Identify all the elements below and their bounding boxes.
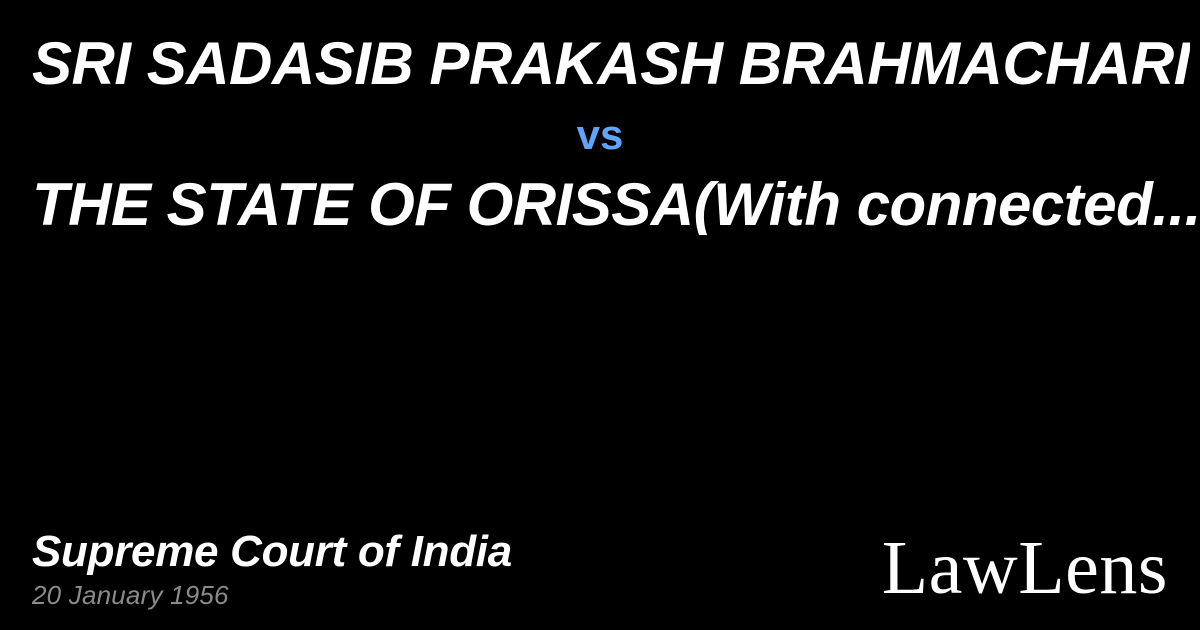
court-name: Supreme Court of India: [32, 528, 512, 576]
petitioner-name: SRI SADASIB PRAKASH BRAHMACHARI: [32, 34, 1190, 94]
case-card: SRI SADASIB PRAKASH BRAHMACHARI vs THE S…: [0, 0, 1200, 630]
card-footer: Supreme Court of India 20 January 1956 L…: [0, 480, 1200, 630]
versus-separator: vs: [0, 114, 1200, 156]
court-info: Supreme Court of India 20 January 1956: [32, 528, 512, 608]
judgment-date: 20 January 1956: [32, 582, 512, 608]
versus-label: vs: [577, 114, 624, 156]
lawlens-logo: LawLens: [882, 530, 1168, 606]
respondent-name: THE STATE OF ORISSA(With connected...: [32, 175, 1200, 235]
